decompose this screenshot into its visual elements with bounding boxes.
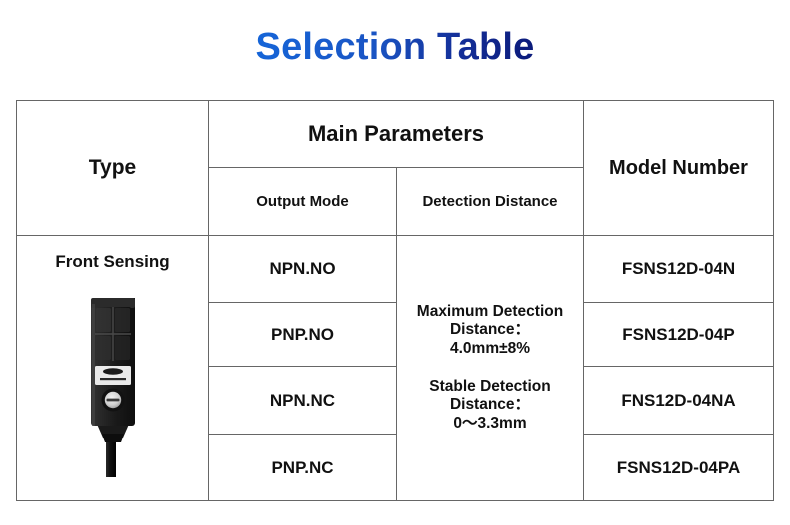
- maximum-detection-label-line1: Maximum Detection: [401, 303, 579, 321]
- sensor-face-quadrant-tl: [96, 308, 111, 332]
- maximum-detection-value: 4.0mm±8%: [401, 340, 579, 358]
- selection-table: Type Main Parameters Model Number Output…: [16, 100, 774, 501]
- output-mode-cell: NPN.NC: [209, 367, 397, 435]
- model-number-cell: FNS12D-04NA: [584, 367, 774, 435]
- sensor-illustration: [78, 282, 148, 477]
- stable-detection-label-line1: Stable Detection: [401, 378, 579, 396]
- type-label: Front Sensing: [55, 252, 169, 272]
- header-cell-main-parameters: Main Parameters: [209, 101, 584, 168]
- detection-distance-spacer: [397, 360, 583, 376]
- type-cell-front-sensing: Front Sensing: [17, 236, 209, 501]
- model-number-cell: FSNS12D-04PA: [584, 435, 774, 501]
- sensor-brand-mark: [103, 368, 123, 374]
- stable-detection-value: 0～3.3mm: [401, 415, 579, 433]
- output-mode-cell: NPN.NO: [209, 236, 397, 303]
- sensor-cable-boot: [102, 434, 124, 442]
- sensor-edge-highlight: [92, 304, 95, 426]
- model-number-cell: FSNS12D-04P: [584, 303, 774, 367]
- sensor-model-text-line: [100, 378, 126, 380]
- sensor-top-face: [91, 298, 135, 308]
- table-header-row-1: Type Main Parameters Model Number: [17, 101, 774, 168]
- page-header: Selection Table: [0, 0, 790, 69]
- header-cell-type: Type: [17, 101, 209, 236]
- maximum-detection-block: Maximum Detection Distance： 4.0mm±8%: [397, 301, 583, 360]
- stable-detection-block: Stable Detection Distance： 0～3.3mm: [397, 376, 583, 435]
- output-mode-cell: PNP.NO: [209, 303, 397, 367]
- selection-table-container: Type Main Parameters Model Number Output…: [16, 100, 773, 500]
- detection-distance-cell: Maximum Detection Distance： 4.0mm±8% Sta…: [397, 236, 584, 501]
- maximum-detection-label-line2: Distance：: [401, 321, 579, 339]
- model-number-cell: FSNS12D-04N: [584, 236, 774, 303]
- table-row: Front Sensing: [17, 236, 774, 303]
- sensor-face-quadrant-br: [115, 336, 130, 360]
- sensor-face-quadrant-tr: [115, 308, 130, 332]
- header-cell-detection-distance: Detection Distance: [397, 168, 584, 236]
- sensor-icon: [78, 282, 148, 477]
- header-cell-output-mode: Output Mode: [209, 168, 397, 236]
- sensor-adjuster-slot: [106, 399, 119, 402]
- sensor-face-quadrant-bl: [96, 336, 111, 360]
- output-mode-cell: PNP.NC: [209, 435, 397, 501]
- page-title: Selection Table: [256, 26, 535, 69]
- stable-detection-label-line2: Distance：: [401, 396, 579, 414]
- header-cell-model-number: Model Number: [584, 101, 774, 236]
